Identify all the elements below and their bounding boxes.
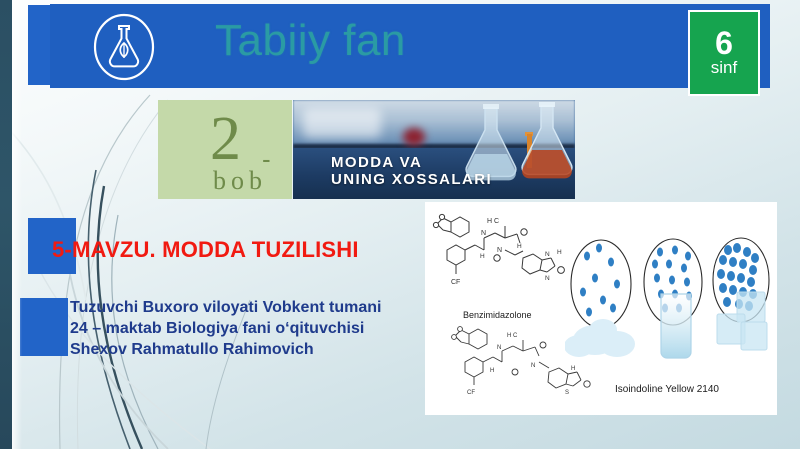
slide-canvas: Tabiiy fan 6 sinf 2 - bob bbox=[0, 0, 800, 449]
chapter-number: 2 bbox=[210, 108, 241, 170]
molecular-structure-top: CF H N H C N H N N H bbox=[427, 210, 577, 314]
svg-text:H: H bbox=[517, 243, 522, 250]
molecule-label-top: Benzimidazolone bbox=[463, 310, 532, 320]
svg-text:N: N bbox=[545, 275, 550, 282]
header-bar bbox=[50, 4, 770, 88]
flask-leaf-icon bbox=[92, 13, 156, 81]
page-title: Tabiiy fan bbox=[215, 16, 406, 66]
author-line-3: Shexov Rahmatullo Rahimovich bbox=[70, 340, 430, 361]
svg-text:H C: H C bbox=[487, 218, 499, 225]
svg-text:H: H bbox=[557, 249, 562, 256]
lesson-title: 5-MAVZU. MODDA TUZILISHI bbox=[52, 237, 359, 263]
left-edge-strip bbox=[0, 0, 12, 449]
chapter-word: bob bbox=[213, 166, 267, 196]
svg-text:N: N bbox=[497, 247, 502, 254]
grade-badge: 6 sinf bbox=[688, 10, 760, 96]
chapter-number-block: 2 - bob bbox=[158, 100, 292, 199]
molecule-label-bottom: Isoindoline Yellow 2140 bbox=[615, 384, 719, 395]
banner-title: MODDA VA UNING XOSSALARI bbox=[331, 155, 492, 189]
svg-text:N: N bbox=[545, 251, 550, 258]
svg-text:N: N bbox=[497, 345, 501, 351]
banner-title-line1: MODDA VA bbox=[331, 155, 492, 172]
svg-text:N: N bbox=[481, 230, 486, 237]
svg-text:CF: CF bbox=[467, 390, 475, 396]
svg-text:H C: H C bbox=[507, 333, 518, 339]
left-edge-highlight bbox=[12, 0, 22, 449]
states-of-matter-diagram bbox=[565, 236, 771, 378]
banner-photo-red-blur bbox=[403, 128, 425, 146]
author-line-1: Tuzuvchi Buxoro viloyati Vobkent tumani bbox=[70, 298, 430, 319]
svg-text:H: H bbox=[490, 368, 494, 374]
svg-text:N: N bbox=[531, 363, 535, 369]
author-block: Tuzuvchi Buxoro viloyati Vobkent tumani … bbox=[70, 298, 430, 360]
grade-number: 6 bbox=[715, 28, 733, 58]
author-line-2: 24 – maktab Biologiya fani o‘qituvchisi bbox=[70, 319, 430, 340]
svg-text:CF: CF bbox=[451, 279, 460, 286]
svg-text:S: S bbox=[565, 390, 569, 396]
banner-photo-blur-highlight bbox=[303, 108, 381, 138]
banner-title-line2: UNING XOSSALARI bbox=[331, 172, 492, 189]
chemistry-figure: CF H N H C N H N N H Benzimida bbox=[425, 202, 777, 415]
svg-text:H: H bbox=[480, 253, 485, 260]
chapter-banner-photo: MODDA VA UNING XOSSALARI bbox=[293, 100, 575, 199]
grade-label: sinf bbox=[711, 59, 737, 78]
accent-square-body bbox=[20, 298, 68, 356]
